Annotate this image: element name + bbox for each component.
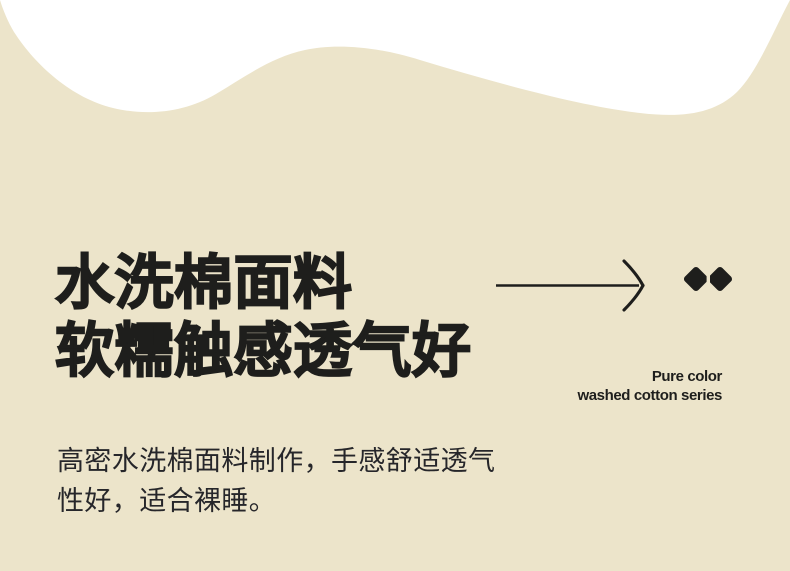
- arrow-icon: [493, 259, 653, 313]
- arrow-head-upper: [624, 261, 643, 286]
- english-tagline: Pure color washed cotton series: [430, 367, 722, 405]
- body-copy-line-2: 性好，适合裸睡。: [57, 481, 557, 521]
- english-tagline-line-2: washed cotton series: [430, 386, 722, 405]
- product-feature-banner: 水洗棉面料 软糯触感透气好 Pure color washed cotton s…: [0, 0, 790, 571]
- top-wave-decoration: [0, 0, 790, 150]
- body-copy: 高密水洗棉面料制作，手感舒适透气 性好，适合裸睡。: [57, 441, 557, 521]
- english-tagline-line-1: Pure color: [430, 367, 722, 386]
- diamond-left: [684, 266, 709, 293]
- body-copy-line-1: 高密水洗棉面料制作，手感舒适透气: [57, 441, 557, 481]
- arrow-head-lower: [624, 286, 643, 311]
- double-diamond-icon: [684, 263, 734, 301]
- diamond-gap-mask: [707, 263, 710, 301]
- diamond-right: [707, 266, 734, 293]
